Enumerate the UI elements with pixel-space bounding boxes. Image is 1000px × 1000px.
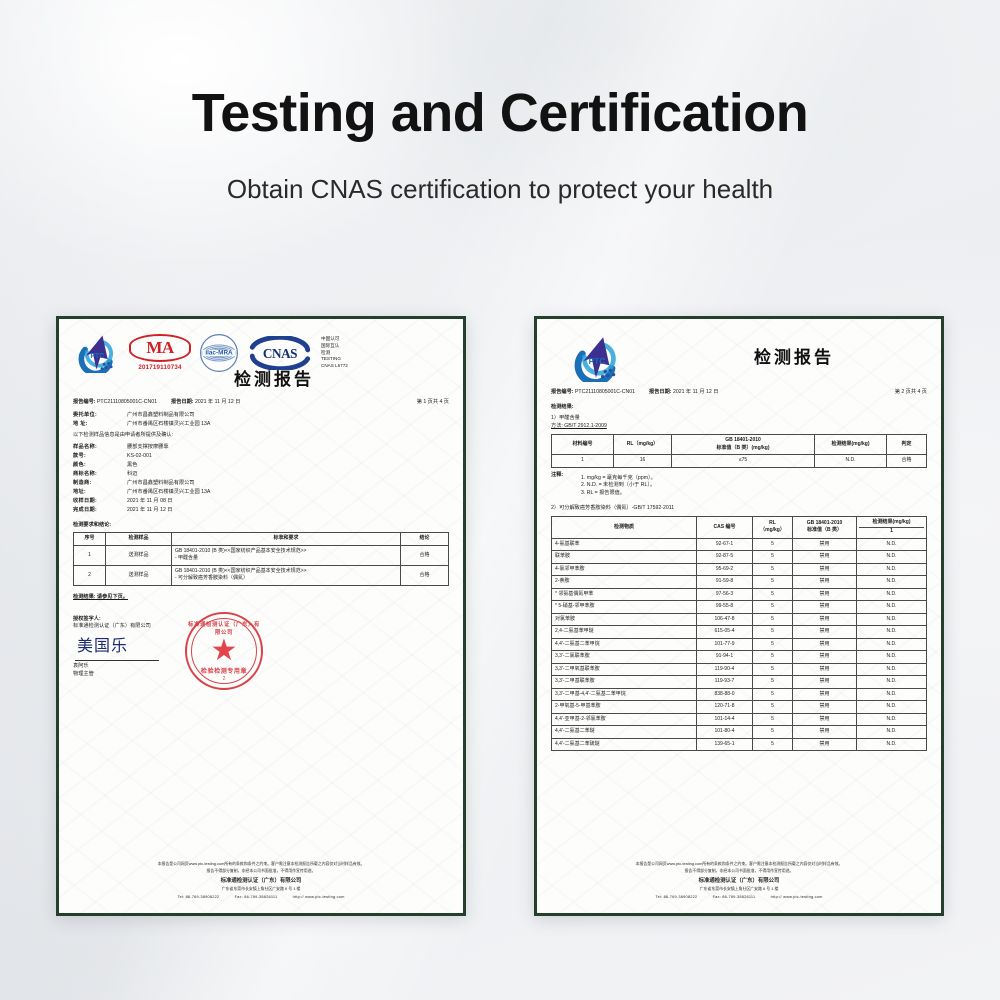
table-row: * 5-硝基-邻甲苯胺99-55-85禁用N.D.: [552, 601, 927, 614]
report-meta-2: 报告编号: PTC21110805001C-CN01 报告日期: 2021 年 …: [551, 389, 927, 397]
cell-cas: 615-05-4: [697, 626, 753, 639]
table-row: 2-甲氧基-5-甲基苯胺120-71-85禁用N.D.: [552, 701, 927, 714]
report-date-value-1: 2021 年 11 月 12 日: [195, 399, 240, 405]
table-row: 3,3'-二甲基联苯胺119-93-75禁用N.D.: [552, 676, 927, 689]
address-value: 广州市番禺区石楼镇灵兴工业园 13A: [127, 421, 210, 429]
client-value: 广州市昌鑫塑料制品有限公司: [127, 412, 194, 420]
cell-cas: 120-71-8: [697, 701, 753, 714]
svg-text:PTC: PTC: [90, 353, 104, 360]
sample-field-list: 样品名称:腰部支撑按摩腰靠 款号:KS-02-001 颜色:黑色 商标名称:科迈…: [73, 444, 449, 515]
sample-field: 制造商:广州市昌鑫塑料制品有限公司: [73, 480, 449, 488]
cell-result: N.D.: [857, 538, 927, 551]
cell-rl: 5: [753, 738, 793, 751]
col-standard-line2: 标准值（B 类）(mg/kg): [674, 445, 812, 453]
cell-material-no: 1: [552, 455, 614, 468]
certificate-page-2[interactable]: PTC 检测报告 报告编号: PTC21110805001C-CN01 报告日期…: [534, 316, 944, 916]
cell-limit: 禁用: [793, 626, 857, 639]
cell-cas: 92-67-1: [697, 538, 753, 551]
cell-result: N.D.: [857, 626, 927, 639]
table-row: 1 16 ≤75 N.D. 合格: [552, 455, 927, 468]
cell-limit: 禁用: [793, 638, 857, 651]
cma-mark-label: MA: [129, 334, 191, 362]
cell-limit: 禁用: [793, 563, 857, 576]
cell-cas: 119-90-4: [697, 663, 753, 676]
cell-result: N.D.: [857, 651, 927, 664]
results-heading: 检测结果:: [551, 404, 927, 412]
sample-field-value: KS-02-001: [127, 453, 152, 461]
footer-line-2: 报告不得部分复制，非经本公司书面批准，不得用作宣传用途。: [551, 868, 927, 875]
cell-substance: 联苯胺: [552, 551, 697, 564]
cell-conclusion: 合格: [401, 565, 449, 585]
page-indicator-1: 第 1 页共 4 页: [417, 399, 449, 407]
stamp-number: 2: [187, 676, 261, 684]
cell-cas: 97-56-3: [697, 588, 753, 601]
cell-rl: 5: [753, 638, 793, 651]
cell-limit: ≤75: [672, 455, 815, 468]
certificate-paper-2: PTC 检测报告 报告编号: PTC21110805001C-CN01 报告日期…: [537, 319, 941, 913]
cell-limit: 禁用: [793, 663, 857, 676]
handwritten-signature: 美国乐: [77, 635, 449, 659]
address-label: 地 址:: [73, 421, 127, 429]
cnas-line-3: 检测: [321, 350, 348, 357]
footer-tel: Tel: 86-769-38908222: [177, 894, 219, 899]
table-row: 1 送测样品 GB 18401-2010 (B 类)<<国家纺织产品基本安全技术…: [74, 545, 449, 565]
col-result: 检测结果(mg/kg): [815, 435, 887, 455]
requirements-heading: 检测要求和结论:: [73, 522, 449, 530]
cell-conclusion: 合格: [401, 545, 449, 565]
sample-field-label: 颜色:: [73, 462, 127, 470]
hero-section: Testing and Certification Obtain CNAS ce…: [0, 0, 1000, 205]
col-rl: RL（mg/kg）: [614, 435, 672, 455]
sample-field: 完成日期:2021 年 11 月 12 日: [73, 507, 449, 515]
sample-info-note: 以下检测样品信息是由申请者所提供及确认:: [73, 432, 449, 440]
sample-field-label: 收样日期:: [73, 498, 127, 506]
table-row: 4-氨基联苯92-67-15禁用N.D.: [552, 538, 927, 551]
cell-result: N.D.: [815, 455, 887, 468]
footer-company: 标准通检测认证（广东）有限公司: [73, 877, 449, 886]
report-no-label-2: 报告编号:: [551, 389, 573, 395]
cell-limit: 禁用: [793, 676, 857, 689]
cell-substance: 对氯苯胺: [552, 613, 697, 626]
cell-result: N.D.: [857, 726, 927, 739]
address-row: 地 址: 广州市番禺区石楼镇灵兴工业园 13A: [73, 421, 449, 429]
cell-rl: 5: [753, 713, 793, 726]
table-row: 4-氯邻甲苯胺95-69-25禁用N.D.: [552, 563, 927, 576]
sample-field: 款号:KS-02-001: [73, 453, 449, 461]
footer-contact: Tel: 86-769-38908222 Fax: 86-769-3882611…: [73, 894, 449, 901]
report-date-value-2: 2021 年 11 月 12 日: [673, 389, 718, 395]
sample-field-value: 科迈: [127, 471, 137, 479]
cell-substance: 2-萘胺: [552, 576, 697, 589]
table-row: 2,4-二氨基苯甲醚615-05-45禁用N.D.: [552, 626, 927, 639]
svg-text:PTC: PTC: [589, 356, 606, 366]
cell-rl: 5: [753, 538, 793, 551]
col-rl: RL （mg/kg）: [753, 516, 793, 538]
svg-text:CNAS: CNAS: [263, 346, 297, 361]
cell-limit: 禁用: [793, 726, 857, 739]
cell-rl: 5: [753, 651, 793, 664]
cell-result: N.D.: [857, 588, 927, 601]
sample-field-label: 商标名称:: [73, 471, 127, 479]
ptc-logo-icon: PTC: [573, 334, 625, 382]
report-date-label-1: 报告日期:: [171, 399, 193, 405]
cell-cas: 101-80-4: [697, 726, 753, 739]
footer-fax: Fax: 86-769-38826111: [713, 894, 756, 899]
cell-substance: 4,4'-亚甲基-2-邻氯苯胺: [552, 713, 697, 726]
certificate-paper-1: PTC MA 201719110734: [59, 319, 463, 913]
col-rl-line2: （mg/kg）: [755, 527, 790, 535]
sample-field: 收样日期:2021 年 11 月 08 日: [73, 498, 449, 506]
col-verdict: 判定: [887, 435, 927, 455]
cell-substance: * 邻氨基偶氮甲苯: [552, 588, 697, 601]
sample-field-label: 样品名称:: [73, 444, 127, 452]
requirements-table: 序号 检测样品 标准和要求 结论 1 送测样品 GB 18401-2010 (B…: [73, 532, 449, 586]
page-footer-2: 本报告是公司网页www.ptc-testing.com所有的条款和条件之约束。客…: [551, 861, 927, 901]
cell-substance: 4-氨基联苯: [552, 538, 697, 551]
cell-cas: 838-88-0: [697, 688, 753, 701]
table-row: 2-萘胺91-59-85禁用N.D.: [552, 576, 927, 589]
cell-limit: 禁用: [793, 713, 857, 726]
cnas-line-2: 国际互认: [321, 343, 348, 350]
table-row: 4,4'-亚甲基-2-邻氯苯胺101-14-45禁用N.D.: [552, 713, 927, 726]
cell-limit: 禁用: [793, 738, 857, 751]
cell-rl: 5: [753, 576, 793, 589]
col-no: 序号: [74, 533, 106, 546]
cell-cas: 101-14-4: [697, 713, 753, 726]
ilac-mra-logo-icon: ilac-MRA: [199, 333, 239, 373]
sample-field-value: 黑色: [127, 462, 137, 470]
page-footer-1: 本报告是公司网页www.ptc-testing.com所有的条款和条件之约束。客…: [73, 861, 449, 901]
cell-result: N.D.: [857, 663, 927, 676]
cell-result: N.D.: [857, 688, 927, 701]
cell-substance: 4,4'-二氨基二苯醚: [552, 726, 697, 739]
cell-result: N.D.: [857, 576, 927, 589]
cell-substance: 3,3'-二甲氧基联苯胺: [552, 663, 697, 676]
client-row: 委托单位: 广州市昌鑫塑料制品有限公司: [73, 412, 449, 420]
cell-result: N.D.: [857, 551, 927, 564]
cell-result: N.D.: [857, 738, 927, 751]
signatory-company: 标准通检测认证（广东）有限公司: [73, 623, 449, 631]
col-standard-line1: GB 18401-2010: [674, 437, 812, 445]
sample-field-value: 腰部支撑按摩腰靠: [127, 444, 169, 452]
sample-field-label: 完成日期:: [73, 507, 127, 515]
cell-cas: 99-55-8: [697, 601, 753, 614]
remarks-list: 1. mg/kg = 毫克每千克（ppm）。 2. N.D. = 未检测到（小于…: [581, 475, 656, 498]
col-conclusion: 结论: [401, 533, 449, 546]
footer-line-1: 本报告是公司网页www.ptc-testing.com所有的条款和条件之约束。客…: [551, 861, 927, 868]
col-result: 检测结果(mg/kg) 1: [857, 516, 927, 538]
signature-block: 授权签字人: 标准通检测认证（广东）有限公司 美国乐 袁阿乐 物理主管 标准通检…: [73, 616, 449, 700]
cell-substance: 2-甲氧基-5-甲基苯胺: [552, 701, 697, 714]
cell-rl: 5: [753, 726, 793, 739]
table-row: 联苯胺92-87-55禁用N.D.: [552, 551, 927, 564]
report-no-value-2: PTC21110805001C-CN01: [575, 389, 635, 395]
cnas-line-5: CNAS L5772: [321, 363, 348, 370]
cell-rl: 5: [753, 588, 793, 601]
col-limit-line2: 标准值（B 类）: [795, 527, 854, 535]
cell-sample: 送测样品: [106, 565, 172, 585]
cell-sample: 送测样品: [106, 545, 172, 565]
cell-limit: 禁用: [793, 701, 857, 714]
cell-rl: 5: [753, 601, 793, 614]
cell-result: N.D.: [857, 563, 927, 576]
report-title-2: 检测报告: [661, 345, 927, 371]
sample-field-value: 2021 年 11 月 08 日: [127, 498, 172, 506]
cell-substance: 4,4'-二氨基二苯甲烷: [552, 638, 697, 651]
signatory-role: 物理主管: [73, 671, 449, 679]
cell-cas: 91-59-8: [697, 576, 753, 589]
azo-section-title: 2）可分解致癌芳香胺染料（偶氮）-GB/T 17592-2011: [551, 505, 927, 513]
cell-cas: 92-87-5: [697, 551, 753, 564]
table-row: 3,3'-二氯联苯胺91-94-15禁用N.D.: [552, 651, 927, 664]
col-result-sub: 1: [859, 527, 924, 536]
cell-cas: 91-94-1: [697, 651, 753, 664]
footer-fax: Fax: 86-769-38826111: [235, 894, 278, 899]
cell-substance: * 5-硝基-邻甲苯胺: [552, 601, 697, 614]
cell-cas: 139-65-1: [697, 738, 753, 751]
sample-field: 样品名称:腰部支撑按摩腰靠: [73, 444, 449, 452]
client-label: 委托单位:: [73, 412, 127, 420]
col-cas: CAS 编号: [697, 516, 753, 538]
footer-address: 广东省东莞市长安镇上角社区广安路 6 号 1 楼: [73, 886, 449, 893]
cell-result: N.D.: [857, 601, 927, 614]
cell-limit: 禁用: [793, 576, 857, 589]
cell-rl: 16: [614, 455, 672, 468]
report-no-value-1: PTC21110805001C-CN01: [97, 399, 157, 405]
certificate-page-1[interactable]: PTC MA 201719110734: [56, 316, 466, 916]
footer-address: 广东省东莞市长安镇上角社区广安路 6 号 1 楼: [551, 886, 927, 893]
sample-field-label: 款号:: [73, 453, 127, 461]
report-no-label-1: 报告编号:: [73, 399, 95, 405]
cell-cas: 101-77-9: [697, 638, 753, 651]
sample-field-value: 广州市番禺区石楼镇灵兴工业园 13A: [127, 489, 210, 497]
col-sample: 检测样品: [106, 533, 172, 546]
sample-field: 颜色:黑色: [73, 462, 449, 470]
footer-contact: Tel: 86-769-38908222 Fax: 86-769-3882611…: [551, 894, 927, 901]
footer-line-1: 本报告是公司网页www.ptc-testing.com所有的条款和条件之约束。客…: [73, 861, 449, 868]
cell-standard: GB 18401-2010 (B 类)<<国家纺织产品基本安全技术规范>> - …: [172, 545, 401, 565]
formaldehyde-table: 材料编号 RL（mg/kg） GB 18401-2010 标准值（B 类）(mg…: [551, 434, 927, 468]
sample-field: 商标名称:科迈: [73, 471, 449, 479]
cell-result: N.D.: [857, 713, 927, 726]
cell-standard-line1: GB 18401-2010 (B 类)<<国家纺织产品基本安全技术规范>>: [175, 548, 398, 556]
table-header-row: 序号 检测样品 标准和要求 结论: [74, 533, 449, 546]
sample-field: 地址:广州市番禺区石楼镇灵兴工业园 13A: [73, 489, 449, 497]
footer-web[interactable]: http:// www.ptc-testing.com: [293, 894, 345, 899]
sample-field-value: 2021 年 11 月 12 日: [127, 507, 172, 515]
table-header-row: 检测物质 CAS 编号 RL （mg/kg） GB 18401-2010 标准值…: [552, 516, 927, 538]
cell-rl: 5: [753, 551, 793, 564]
azo-dye-table: 检测物质 CAS 编号 RL （mg/kg） GB 18401-2010 标准值…: [551, 516, 927, 752]
cell-rl: 5: [753, 688, 793, 701]
sample-field-label: 地址:: [73, 489, 127, 497]
cell-limit: 禁用: [793, 601, 857, 614]
report-meta-1: 报告编号: PTC21110805001C-CN01 报告日期: 2021 年 …: [73, 399, 449, 407]
ptc-logo-icon: PTC: [77, 333, 121, 373]
cell-limit: 禁用: [793, 688, 857, 701]
remarks-label: 注释:: [551, 472, 581, 498]
report-date-label-2: 报告日期:: [649, 389, 671, 395]
table-row: * 邻氨基偶氮甲苯97-56-35禁用N.D.: [552, 588, 927, 601]
cnas-accreditation-text: 中国认可 国际互认 检测 TESTING CNAS L5772: [321, 336, 348, 369]
page-subtitle: Obtain CNAS certification to protect you…: [0, 144, 1000, 205]
svg-text:ilac-MRA: ilac-MRA: [205, 350, 233, 357]
sample-field-label: 制造商:: [73, 480, 127, 488]
sample-field-value: 广州市昌鑫塑料制品有限公司: [127, 480, 194, 488]
cell-result: N.D.: [857, 638, 927, 651]
result-reference-line: 检测结果: 请参见下页。: [73, 594, 449, 602]
cma-number: 201719110734: [129, 363, 191, 372]
cell-rl: 5: [753, 626, 793, 639]
cell-cas: 106-47-8: [697, 613, 753, 626]
cell-substance: 4,4'-二氨基二苯硫醚: [552, 738, 697, 751]
table-header-row: 材料编号 RL（mg/kg） GB 18401-2010 标准值（B 类）(mg…: [552, 435, 927, 455]
cell-standard-line2: - 甲醛含量: [175, 555, 398, 563]
cnas-line-4: TESTING: [321, 356, 348, 363]
col-material-no: 材料编号: [552, 435, 614, 455]
cell-substance: 3,3'-二甲基-4,4'-二氨基二苯甲烷: [552, 688, 697, 701]
table-row: 2 送测样品 GB 18401-2010 (B 类)<<国家纺织产品基本安全技术…: [74, 565, 449, 585]
footer-tel: Tel: 86-769-38908222: [655, 894, 697, 899]
page-title: Testing and Certification: [0, 0, 1000, 144]
stamp-arc-text: 标准通检测认证（广东）有限公司: [187, 621, 261, 637]
cell-substance: 4-氯邻甲苯胺: [552, 563, 697, 576]
table-row: 3,3'-二甲基-4,4'-二氨基二苯甲烷838-88-05禁用N.D.: [552, 688, 927, 701]
cma-logo: MA 201719110734: [129, 334, 191, 372]
cell-verdict: 合格: [887, 455, 927, 468]
official-stamp: 标准通检测认证（广东）有限公司 ★ 检验检测专用章 2: [185, 612, 263, 690]
cell-result: N.D.: [857, 676, 927, 689]
col-standard: 标准和要求: [172, 533, 401, 546]
formaldehyde-section-title: 1）甲醛含量: [551, 415, 927, 423]
cell-rl: 5: [753, 676, 793, 689]
cell-limit: 禁用: [793, 588, 857, 601]
table-row: 4,4'-二氨基二苯甲烷101-77-95禁用N.D.: [552, 638, 927, 651]
table-row: 3,3'-二甲氧基联苯胺119-90-45禁用N.D.: [552, 663, 927, 676]
cell-rl: 5: [753, 701, 793, 714]
cell-no: 2: [74, 565, 106, 585]
cnas-logo-icon: CNAS: [247, 336, 313, 370]
footer-company: 标准通检测认证（广东）有限公司: [551, 877, 927, 886]
cell-cas: 119-93-7: [697, 676, 753, 689]
cell-substance: 2,4-二氨基苯甲醚: [552, 626, 697, 639]
page-indicator-2: 第 2 页共 4 页: [895, 389, 927, 397]
cell-substance: 3,3'-二氯联苯胺: [552, 651, 697, 664]
cell-rl: 5: [753, 613, 793, 626]
table-row: 对氯苯胺106-47-85禁用N.D.: [552, 613, 927, 626]
cell-rl: 5: [753, 563, 793, 576]
cell-cas: 95-69-2: [697, 563, 753, 576]
col-substance: 检测物质: [552, 516, 697, 538]
signatory-name: 袁阿乐: [73, 663, 449, 671]
formaldehyde-method: 方法: GB/T 2912.1-2009: [551, 423, 927, 431]
col-result-line1: 检测结果(mg/kg): [859, 519, 924, 527]
cell-result: N.D.: [857, 701, 927, 714]
col-standard-limit: GB 18401-2010 标准值（B 类）(mg/kg): [672, 435, 815, 455]
logo-row-2: PTC 检测报告: [551, 329, 927, 387]
cell-standard: GB 18401-2010 (B 类)<<国家纺织产品基本安全技术规范>> - …: [172, 565, 401, 585]
col-limit: GB 18401-2010 标准值（B 类）: [793, 516, 857, 538]
cell-result: N.D.: [857, 613, 927, 626]
cell-rl: 5: [753, 663, 793, 676]
cell-limit: 禁用: [793, 538, 857, 551]
footer-line-2: 报告不得部分复制，非经本公司书面批准，不得用作宣传用途。: [73, 868, 449, 875]
cell-limit: 禁用: [793, 551, 857, 564]
table-row: 4,4'-二氨基二苯硫醚139-65-15禁用N.D.: [552, 738, 927, 751]
cell-substance: 3,3'-二甲基联苯胺: [552, 676, 697, 689]
remarks-block: 注释: 1. mg/kg = 毫克每千克（ppm）。 2. N.D. = 未检测…: [551, 472, 927, 498]
col-rl-line1: RL: [755, 520, 790, 528]
remark-item: 3. RL = 报告限值。: [581, 490, 656, 498]
cell-standard-line2: - 可分解致癌芳香胺染料（偶氮）: [175, 575, 398, 583]
footer-web[interactable]: http:// www.ptc-testing.com: [771, 894, 823, 899]
table-row: 4,4'-二氨基二苯醚101-80-45禁用N.D.: [552, 726, 927, 739]
cell-limit: 禁用: [793, 613, 857, 626]
signature-rule: [75, 660, 159, 661]
cell-no: 1: [74, 545, 106, 565]
cell-limit: 禁用: [793, 651, 857, 664]
